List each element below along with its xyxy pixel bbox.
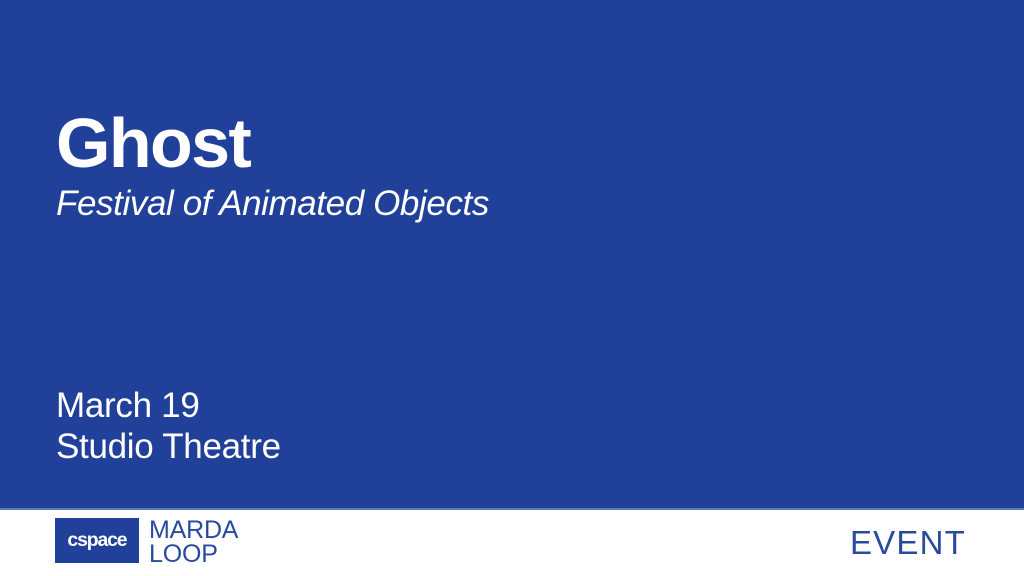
brand-word-marda: MARDA: [149, 519, 238, 543]
event-subtitle: Festival of Animated Objects: [56, 184, 936, 224]
cspace-wordmark-text: cspace: [67, 531, 126, 550]
event-details-block: March 19 Studio Theatre: [56, 385, 756, 468]
event-date: March 19: [56, 385, 756, 426]
cspace-logo-mark: cspace: [55, 518, 139, 563]
marda-loop-wordmark: MARDA LOOP: [149, 518, 238, 566]
footer-bar: cspace MARDA LOOP EVENT: [0, 510, 1024, 576]
category-label-event: EVENT: [850, 526, 966, 559]
event-venue: Studio Theatre: [56, 426, 756, 467]
cspace-marda-loop-logo: cspace MARDA LOOP: [55, 518, 238, 566]
title-block: Ghost Festival of Animated Objects: [56, 108, 936, 224]
event-title: Ghost: [56, 108, 936, 178]
brand-word-loop: LOOP: [149, 543, 238, 567]
event-slide: Ghost Festival of Animated Objects March…: [0, 0, 1024, 576]
